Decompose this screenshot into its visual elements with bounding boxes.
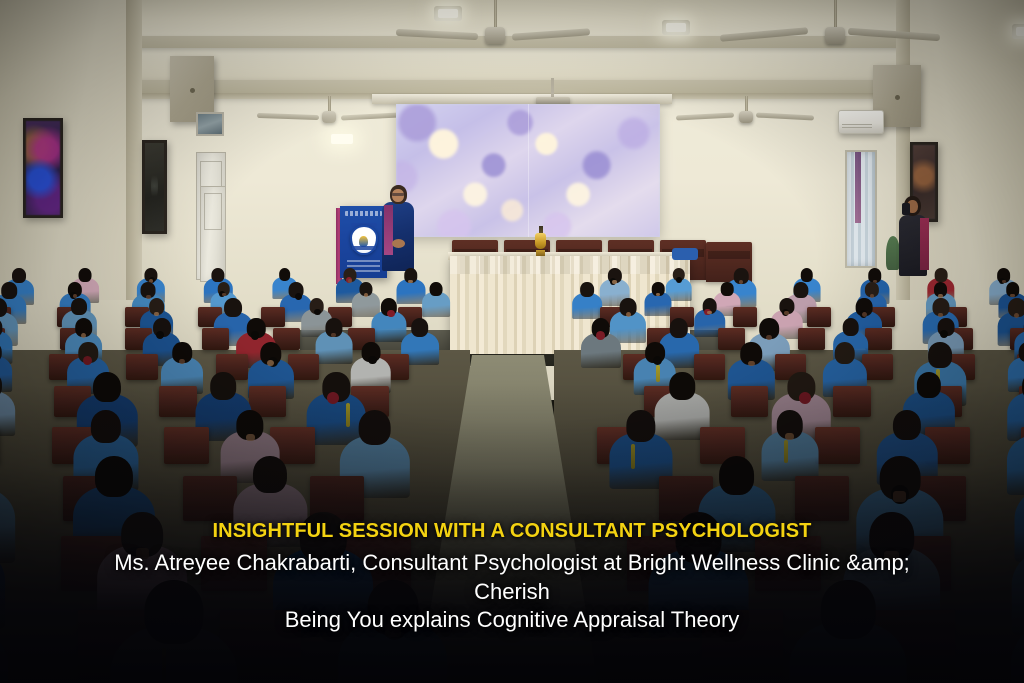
caption-headline: INSIGHTFUL SESSION WITH A CONSULTANT PSY…: [24, 519, 1000, 544]
presenter: [381, 185, 415, 271]
attendee-with-phone: [896, 196, 930, 276]
caption-subtitle-line-1: Ms. Atreyee Chakrabarti, Consultant Psyc…: [62, 549, 962, 578]
eyeglasses-icon: [392, 193, 404, 196]
audience-chair: [815, 427, 860, 465]
audience-chair: [164, 427, 209, 465]
audience-member: [573, 282, 603, 322]
audience-member-neck: [348, 279, 352, 282]
audience-member-neck: [612, 280, 617, 284]
audience-member-head: [842, 318, 859, 336]
audience-chair: [798, 328, 825, 351]
audience-member-head: [670, 318, 688, 338]
ceiling-spotlight: [434, 6, 462, 21]
stage-table-swag: [450, 256, 690, 274]
ceiling-spotlight: [662, 20, 690, 35]
audience-member-torso: [0, 391, 15, 437]
audience-chair: [202, 328, 229, 351]
audience-member-head: [71, 298, 87, 315]
audience-member-head: [211, 372, 237, 400]
caption-subtitle-line-2: Cherish: [62, 578, 962, 607]
audience-member-head: [78, 268, 91, 282]
audience-member-head: [917, 372, 941, 398]
audience-member-neck: [893, 491, 906, 502]
left-wall-pilaster: [126, 0, 142, 300]
audience-member-neck: [766, 335, 772, 340]
hair-bun: [368, 356, 377, 365]
window-with-blinds: [845, 150, 877, 268]
hair-bun: [596, 331, 605, 340]
banner-top-text: [345, 211, 383, 216]
audience-member-head: [91, 410, 121, 443]
left-wall-return: [0, 0, 132, 300]
audience-member-neck: [1010, 294, 1014, 298]
audience-member-head: [253, 456, 287, 493]
hair-bun: [387, 310, 395, 318]
ceiling-downlight: [331, 134, 353, 144]
draped-cloth: [672, 248, 698, 260]
audience-member-neck: [408, 280, 412, 284]
audience-chair: [807, 307, 831, 327]
audience-member-head: [670, 372, 695, 400]
audience-chair: [865, 328, 892, 351]
audience-member-neck: [626, 312, 631, 316]
id-lanyard: [784, 440, 788, 463]
hair-bun: [940, 330, 948, 338]
audience-member-head: [279, 268, 291, 281]
audience-chair: [159, 386, 197, 417]
audience-member-head: [626, 410, 655, 442]
audience-member-neck: [154, 312, 159, 316]
ceremonial-lamp: [534, 226, 547, 256]
audience-member-head: [801, 268, 814, 282]
audience-chair: [833, 386, 871, 417]
projection-screen: [396, 104, 660, 237]
audience-member-head: [224, 298, 242, 317]
transom-window: [196, 112, 224, 136]
audience-chair: [183, 476, 237, 521]
audience-member-head: [721, 282, 734, 296]
audience-member-neck: [785, 433, 793, 440]
caption-subtitle-line-3: Being You explains Cognitive Appraisal T…: [62, 606, 962, 635]
audience-member-head: [430, 282, 443, 296]
audience-member-head: [928, 342, 952, 368]
audience-member-neck: [222, 293, 226, 296]
audience-member-neck: [179, 359, 185, 364]
audience-member-head: [793, 282, 808, 298]
mobile-phone-icon: [902, 203, 910, 215]
hair-bun: [676, 277, 682, 283]
audience-member: [581, 318, 621, 372]
framed-artwork-dark: [142, 140, 167, 234]
audience-member-head: [893, 410, 921, 440]
audience-chair: [795, 476, 849, 521]
audience-member-head: [581, 282, 595, 297]
screen-image-divider: [528, 104, 529, 237]
hair-bun: [251, 331, 260, 340]
audience-member-head: [95, 456, 133, 497]
caption-subtitle: Ms. Atreyee Chakrabarti, Consultant Psyc…: [62, 549, 962, 635]
university-logo-icon: [350, 225, 378, 255]
audience-member-head: [719, 456, 755, 495]
id-lanyard: [162, 648, 166, 683]
audience-member-neck: [246, 434, 255, 441]
audience-member-neck: [862, 312, 867, 316]
audience-member-neck: [81, 333, 87, 338]
audience-member-head: [411, 318, 429, 337]
audience-member-head: [212, 268, 225, 282]
audience-member: [0, 372, 15, 442]
caption-block: INSIGHTFUL SESSION WITH A CONSULTANT PSY…: [0, 519, 1024, 635]
projector-mount: [551, 78, 554, 99]
audience-member-neck: [748, 361, 755, 367]
audience-member: [422, 282, 450, 319]
audience-member-head: [2, 282, 18, 299]
hair-bun: [83, 356, 92, 365]
id-lanyard: [631, 444, 635, 469]
event-photograph: INSIGHTFUL SESSION WITH A CONSULTANT PSY…: [0, 0, 1024, 683]
air-conditioner: [838, 110, 884, 134]
banner-logo-lower-arc: [352, 246, 376, 250]
audience-member-head: [835, 342, 856, 364]
audience-member-head: [935, 268, 948, 282]
audience-member-head: [93, 372, 121, 402]
ceiling-spotlight: [1012, 24, 1024, 39]
audience-member-head: [358, 410, 391, 445]
audience-member-head: [12, 268, 26, 283]
hair-bun: [799, 392, 812, 405]
framed-artwork-colorful: [23, 118, 63, 218]
audience-member: [645, 282, 672, 318]
audience-member: [315, 318, 352, 368]
projector-screen-housing: [372, 94, 672, 104]
